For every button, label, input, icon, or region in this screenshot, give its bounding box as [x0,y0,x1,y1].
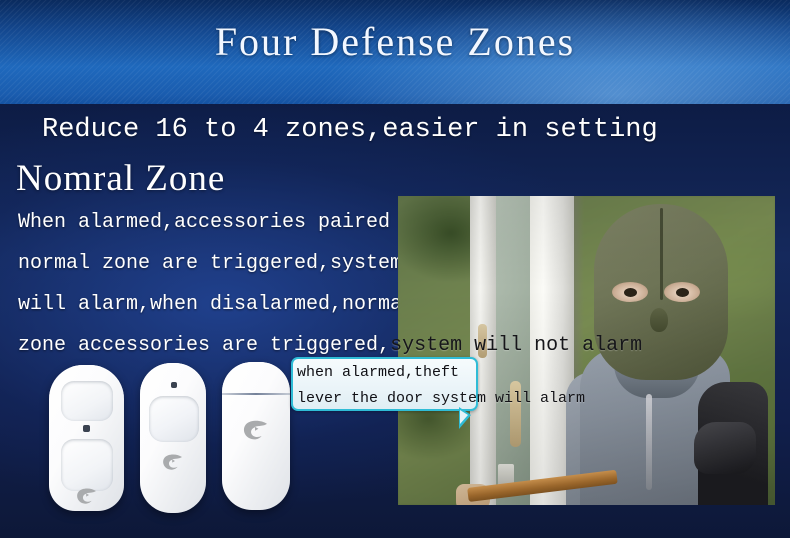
pir-lens [149,396,199,442]
section-heading-normal-zone: Nomral Zone [16,157,225,200]
callout-segment-light: lever the door [297,390,432,407]
description-segment-dark: system will not alarm [390,334,642,357]
poster-root: Four Defense Zones Reduce 16 to 4 zones,… [0,0,790,538]
pir-motion-sensor-large [49,365,124,511]
status-led-icon [83,425,90,432]
sensor-seam-line [222,393,290,395]
pir-lens-upper [61,381,113,421]
callout-line-2: lever the door system will alarm [297,386,790,412]
door-window-contact-sensor [222,362,290,510]
callout-line-1: when alarmed,theft [297,360,790,386]
brand-e-logo-icon [76,487,98,505]
brand-e-logo-icon [242,419,270,441]
poster-subtitle: Reduce 16 to 4 zones,easier in setting [42,115,658,145]
callout-text: when alarmed,theft lever the door system… [297,360,790,412]
brand-e-logo-icon [162,453,184,471]
pir-lens-lower [61,439,113,491]
description-segment-light: zone accessories are triggered, [18,334,390,357]
pir-motion-sensor-small [140,363,206,513]
status-led-icon [171,382,177,388]
page-title: Four Defense Zones [0,18,790,65]
callout-segment-dark: system will alarm [432,390,585,407]
